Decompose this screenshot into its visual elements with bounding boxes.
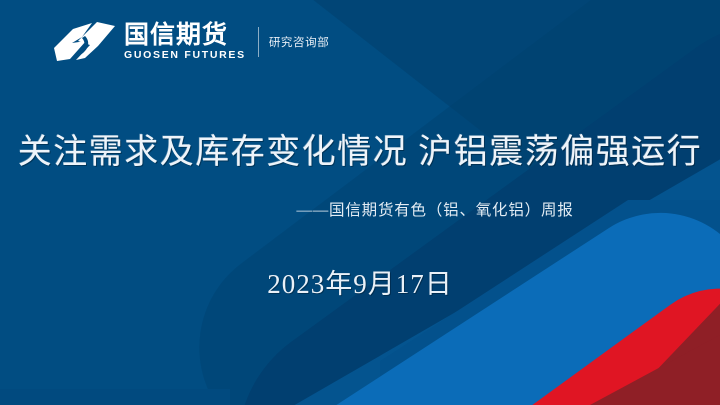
bottom-left-navy-sliver	[0, 389, 230, 405]
page-subtitle: ——国信期货有色（铝、氧化铝）周报	[0, 198, 720, 220]
logo-text-block: 国信期货 GUOSEN FUTURES	[124, 22, 246, 62]
page-title: 关注需求及库存变化情况 沪铝震荡偏强运行	[0, 124, 720, 173]
logo-company-name-en: GUOSEN FUTURES	[124, 49, 246, 62]
presentation-cover-slide: 国信期货 GUOSEN FUTURES 研究咨询部 关注需求及库存变化情况 沪铝…	[0, 0, 720, 405]
logo-divider	[258, 27, 259, 57]
company-logo-lockup: 国信期货 GUOSEN FUTURES 研究咨询部	[52, 16, 329, 68]
dark-red-corner-triangle	[590, 335, 720, 405]
logo-department-label: 研究咨询部	[269, 34, 330, 50]
blue-wedge-right	[380, 200, 720, 405]
guosen-futures-logo-mark	[52, 17, 118, 67]
logo-company-name-cn: 国信期货	[124, 22, 246, 48]
publication-date: 2023年9月17日	[0, 262, 720, 301]
